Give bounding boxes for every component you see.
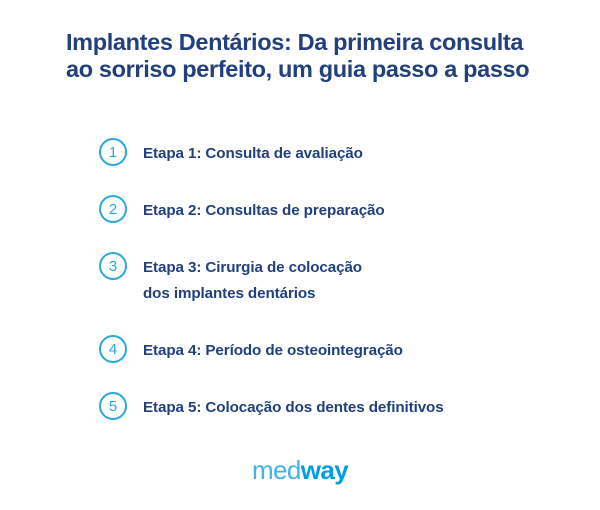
- step-number-badge-1: 1: [99, 138, 127, 166]
- list-item: 2 Etapa 2: Consultas de preparação: [99, 195, 559, 224]
- step-text-3: Etapa 3: Cirurgia de colocação dos impla…: [143, 252, 362, 307]
- step-number-label: 3: [109, 259, 117, 274]
- step-text-line-1: Etapa 3: Cirurgia de colocação: [143, 255, 362, 281]
- step-number-label: 1: [109, 145, 117, 160]
- step-number-badge-5: 5: [99, 392, 127, 420]
- step-text-line-1: Etapa 5: Colocação dos dentes definitivo…: [143, 395, 444, 421]
- step-number-badge-4: 4: [99, 335, 127, 363]
- logo-text-way: way: [301, 455, 348, 485]
- step-number-label: 2: [109, 202, 117, 217]
- page-title-line-2: ao sorriso perfeito, um guia passo a pas…: [66, 56, 546, 83]
- list-item: 5 Etapa 5: Colocação dos dentes definiti…: [99, 392, 559, 421]
- list-item: 4 Etapa 4: Período de osteointegração: [99, 335, 559, 364]
- step-text-4: Etapa 4: Período de osteointegração: [143, 335, 403, 364]
- step-text-line-1: Etapa 1: Consulta de avaliação: [143, 141, 363, 167]
- medway-logo: medway: [0, 455, 600, 485]
- step-number-label: 5: [109, 399, 117, 414]
- logo-text-med: med: [252, 455, 301, 485]
- step-text-2: Etapa 2: Consultas de preparação: [143, 195, 385, 224]
- page-title-line-1: Implantes Dentários: Da primeira consult…: [66, 29, 546, 56]
- step-number-badge-2: 2: [99, 195, 127, 223]
- step-text-line-2: dos implantes dentários: [143, 281, 362, 307]
- infographic-canvas: Implantes Dentários: Da primeira consult…: [0, 0, 600, 510]
- step-text-line-1: Etapa 2: Consultas de preparação: [143, 198, 385, 224]
- step-text-line-1: Etapa 4: Período de osteointegração: [143, 338, 403, 364]
- page-title: Implantes Dentários: Da primeira consult…: [66, 29, 546, 83]
- step-text-1: Etapa 1: Consulta de avaliação: [143, 138, 363, 167]
- steps-list: 1 Etapa 1: Consulta de avaliação 2 Etapa…: [99, 138, 559, 421]
- list-item: 3 Etapa 3: Cirurgia de colocação dos imp…: [99, 252, 559, 307]
- step-number-label: 4: [109, 342, 117, 357]
- list-item: 1 Etapa 1: Consulta de avaliação: [99, 138, 559, 167]
- step-text-5: Etapa 5: Colocação dos dentes definitivo…: [143, 392, 444, 421]
- step-number-badge-3: 3: [99, 252, 127, 280]
